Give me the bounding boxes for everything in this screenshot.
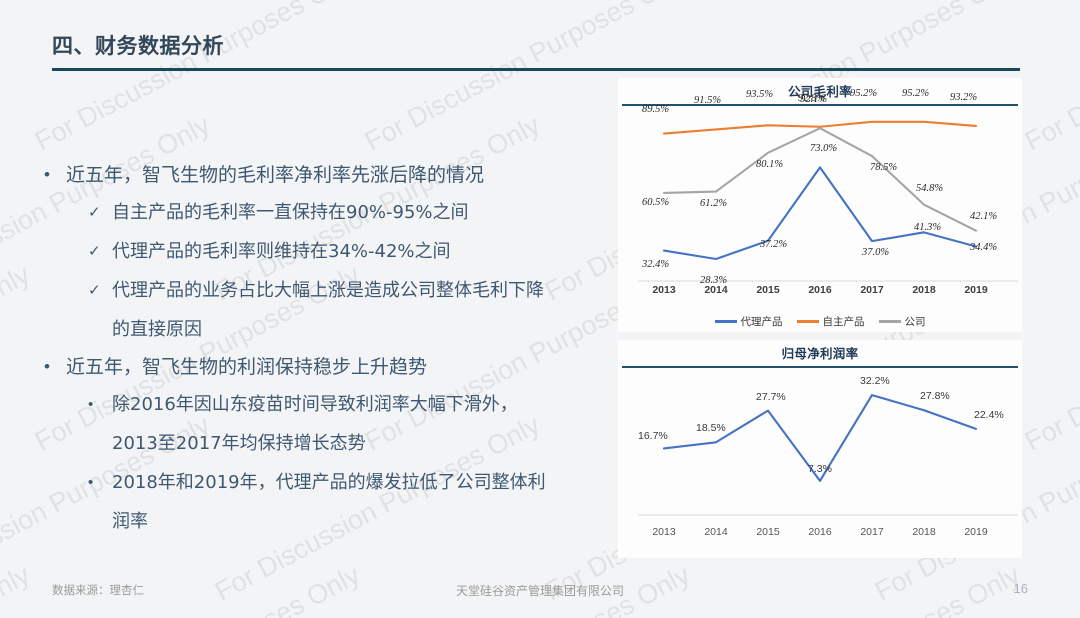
data-label: 7.3% <box>808 463 832 475</box>
sub-bullet-text: 代理产品的毛利率则维持在34%-42%之间 <box>112 233 451 270</box>
chart-plot-area: 32.4%28.3%37.2%73.0%37.0%41.3%34.4%89.5%… <box>618 106 1022 282</box>
x-tick-label: 2014 <box>690 284 742 296</box>
sub-bullet-item: ✓ 代理产品的业务占比大幅上涨是造成公司整体毛利下降 <box>88 272 620 309</box>
watermark-text: For Discussion Purposes Only <box>1020 0 1080 157</box>
data-label: 27.7% <box>756 391 786 403</box>
sub-bullet-text: 2018年和2019年，代理产品的爆发拉低了公司整体利 <box>112 464 546 501</box>
chart-legend: 代理产品自主产品公司 <box>618 314 1022 329</box>
data-label: 80.1% <box>756 159 783 170</box>
bullet-marker: • <box>40 352 66 382</box>
bullet-marker: • <box>88 386 112 423</box>
sub-bullet-text: 的直接原因 <box>112 311 202 348</box>
legend-swatch-icon <box>797 320 819 323</box>
legend-swatch-icon <box>879 320 901 323</box>
data-label: 95.2% <box>902 88 929 99</box>
legend-item[interactable]: 公司 <box>879 314 926 329</box>
chart-gross-margin: 公司毛利率 32.4%28.3%37.2%73.0%37.0%41.3%34.4… <box>618 78 1022 332</box>
data-label: 54.8% <box>916 183 943 194</box>
page-title-text: 四、财务数据分析 <box>52 30 224 60</box>
x-tick-label: 2017 <box>846 284 898 296</box>
data-label: 93.2% <box>950 92 977 103</box>
x-tick-label: 2013 <box>638 526 690 538</box>
bullet-text: 近五年，智飞生物的毛利率净利率先涨后降的情况 <box>66 160 484 190</box>
sub-bullet-item: ✓ 代理产品的毛利率则维持在34%-42%之间 <box>88 233 620 270</box>
sub-bullet-text: 代理产品的业务占比大幅上涨是造成公司整体毛利下降 <box>112 272 544 309</box>
check-icon: ✓ <box>88 272 112 309</box>
sub-bullet-text: 2013至2017年均保持增长态势 <box>112 425 366 462</box>
page-number: 16 <box>1014 581 1028 596</box>
bullet-item: • 近五年，智飞生物的毛利率净利率先涨后降的情况 <box>40 160 620 190</box>
data-label: 61.2% <box>700 198 727 209</box>
x-tick-label: 2018 <box>898 526 950 538</box>
data-label: 60.5% <box>642 197 669 208</box>
legend-item[interactable]: 代理产品 <box>715 314 783 329</box>
chart-title: 归母净利润率 <box>618 340 1022 362</box>
data-label: 91.5% <box>694 95 721 106</box>
x-tick-label: 2017 <box>846 526 898 538</box>
watermark-text: For Discussion Purposes Only <box>210 0 545 7</box>
footer-company: 天堂硅谷资产管理集团有限公司 <box>0 582 1080 599</box>
legend-item[interactable]: 自主产品 <box>797 314 865 329</box>
legend-label: 公司 <box>905 314 926 329</box>
legend-swatch-icon <box>715 320 737 323</box>
chart-x-axis: 2013201420152016201720182019 <box>618 526 1022 538</box>
x-tick-label: 2019 <box>950 284 1002 296</box>
check-icon: ✓ <box>88 233 112 270</box>
data-label: 42.1% <box>970 211 997 222</box>
check-icon: ✓ <box>88 194 112 231</box>
data-label: 32.2% <box>860 375 890 387</box>
data-label: 92.1% <box>800 94 827 105</box>
slide: For Discussion Purposes OnlyFor Discussi… <box>0 0 1080 618</box>
legend-label: 自主产品 <box>823 314 865 329</box>
sub-bullet-item: • 2018年和2019年，代理产品的爆发拉低了公司整体利 <box>88 464 620 501</box>
data-label: 95.2% <box>850 88 877 99</box>
data-label: 78.5% <box>870 162 897 173</box>
chart-x-axis: 2013201420152016201720182019 <box>618 284 1022 296</box>
chart-plot-area: 16.7%18.5%27.7%7.3%32.2%27.8%22.4% <box>618 368 1022 516</box>
footer: 数据来源：理杏仁 天堂硅谷资产管理集团有限公司 16 <box>0 570 1080 618</box>
x-tick-label: 2015 <box>742 526 794 538</box>
x-tick-label: 2015 <box>742 284 794 296</box>
x-tick-label: 2018 <box>898 284 950 296</box>
data-label: 89.5% <box>642 104 669 115</box>
data-label: 16.7% <box>638 430 668 442</box>
bullet-text: 近五年，智飞生物的利润保持稳步上升趋势 <box>66 352 427 382</box>
bullet-marker: • <box>40 160 66 190</box>
data-label: 27.8% <box>920 390 950 402</box>
sub-bullet-text: 除2016年因山东疫苗时间导致利润率大幅下滑外， <box>112 386 518 423</box>
sub-bullet-continuation: 的直接原因 <box>88 311 620 348</box>
page-title: 四、财务数据分析 <box>52 30 224 60</box>
x-tick-label: 2014 <box>690 526 742 538</box>
sub-bullet-item: • 除2016年因山东疫苗时间导致利润率大幅下滑外， <box>88 386 620 423</box>
sub-bullet-continuation: 2013至2017年均保持增长态势 <box>88 425 620 462</box>
sub-bullet-text: 自主产品的毛利率一直保持在90%-95%之间 <box>112 194 469 231</box>
watermark-text: For Discussion Purposes Only <box>870 0 1080 7</box>
data-label: 18.5% <box>696 422 726 434</box>
sub-bullet-item: ✓ 自主产品的毛利率一直保持在90%-95%之间 <box>88 194 620 231</box>
bullet-marker: • <box>88 464 112 501</box>
data-label: 34.4% <box>970 242 997 253</box>
data-label: 37.0% <box>862 247 889 258</box>
sub-bullet-text: 润率 <box>112 503 148 540</box>
watermark-text: For Discussion Purposes Only <box>0 0 35 157</box>
watermark-text: For Discussion Purposes Only <box>540 0 875 7</box>
data-label: 41.3% <box>914 222 941 233</box>
data-label: 73.0% <box>810 143 837 154</box>
x-tick-label: 2016 <box>794 284 846 296</box>
x-tick-label: 2019 <box>950 526 1002 538</box>
sub-bullet-continuation: 润率 <box>88 503 620 540</box>
bullet-item: • 近五年，智飞生物的利润保持稳步上升趋势 <box>40 352 620 382</box>
watermark-text: For Discussion Purposes Only <box>0 260 35 458</box>
bullet-list: • 近五年，智飞生物的毛利率净利率先涨后降的情况 ✓ 自主产品的毛利率一直保持在… <box>40 160 620 542</box>
watermark-text: For Discussion Purposes Only <box>30 0 365 157</box>
watermark-text: For Discussion Purposes Only <box>1020 260 1080 458</box>
watermark-text: For Discussion Purposes Only <box>0 0 215 7</box>
data-label: 32.4% <box>642 259 669 270</box>
chart-net-profit-margin: 归母净利润率 16.7%18.5%27.7%7.3%32.2%27.8%22.4… <box>618 340 1022 558</box>
data-label: 37.2% <box>760 239 787 250</box>
legend-label: 代理产品 <box>741 314 783 329</box>
x-tick-label: 2016 <box>794 526 846 538</box>
data-label: 93.5% <box>746 89 773 100</box>
data-label: 22.4% <box>974 409 1004 421</box>
header-rule <box>52 68 1020 71</box>
x-tick-label: 2013 <box>638 284 690 296</box>
